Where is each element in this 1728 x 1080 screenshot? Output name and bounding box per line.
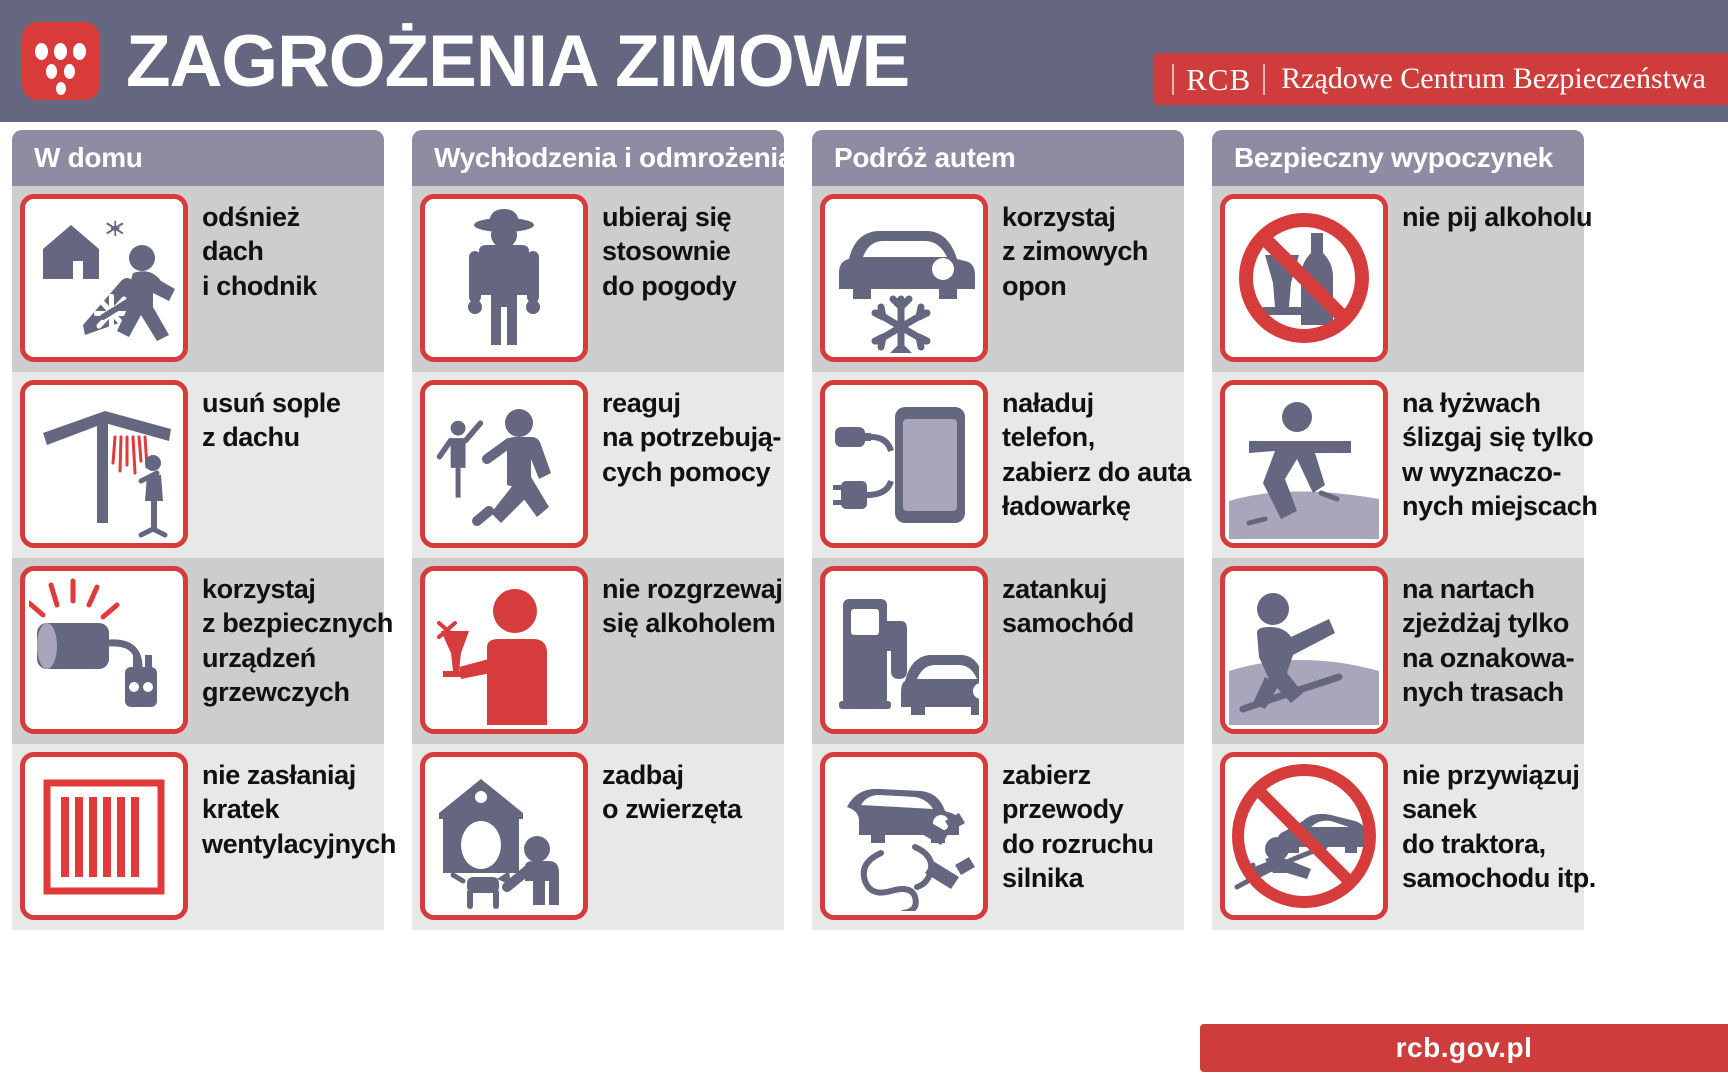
advice-text-line: ładowarkę	[1002, 489, 1191, 523]
column-title: Bezpieczny wypoczynek	[1234, 142, 1553, 174]
advice-text: nie pij alkoholu	[1388, 194, 1598, 234]
column-title: Wychłodzenia i odmrożenia	[434, 142, 793, 174]
advice-text-line: samochodu itp.	[1402, 861, 1596, 895]
ventilation-grill-icon	[20, 752, 188, 920]
skier-slope-icon	[1220, 566, 1388, 734]
advice-text-line: nych miejscach	[1402, 489, 1598, 523]
advice-text-line: samochód	[1002, 606, 1178, 640]
advice-text-line: korzystaj	[1002, 200, 1178, 234]
person-helping-running-icon	[420, 380, 588, 548]
no-alcohol-warming-icon	[420, 566, 588, 734]
advice-text-line: na nartach	[1402, 572, 1578, 606]
rcb-badge-name: Rządowe Centrum Bezpieczeństwa	[1281, 64, 1706, 94]
advice-text-line: nie przywiązuj	[1402, 758, 1596, 792]
footer-url-label: rcb.gov.pl	[1396, 1032, 1533, 1064]
advice-text-line: opon	[1002, 269, 1178, 303]
advice-text-line: cych pomocy	[602, 455, 781, 489]
column-title: W domu	[34, 142, 143, 174]
advice-text: zabierzprzewodydo rozruchusilnika	[988, 752, 1184, 895]
advice-text: reagujna potrzebują-cych pomocy	[588, 380, 787, 489]
advice-row: na nartachzjeżdżaj tylkona oznakowa-nych…	[1212, 558, 1584, 744]
ice-skater-icon	[1220, 380, 1388, 548]
column-0: W domuodśnieżdachi chodnikusuń soplez da…	[0, 130, 396, 930]
roof-icicles-icon	[20, 380, 188, 548]
advice-text-line: w wyznaczo-	[1402, 455, 1598, 489]
advice-text-line: ubieraj się	[602, 200, 778, 234]
column-header-2: Podróż autem	[812, 130, 1184, 186]
advice-row: odśnieżdachi chodnik	[12, 186, 384, 372]
advice-row: nie zasłaniajkratekwentylacyjnych	[12, 744, 384, 930]
advice-row: naładujtelefon,zabierz do autaładowarkę	[812, 372, 1184, 558]
advice-text: nie rozgrzewajsię alkoholem	[588, 566, 788, 641]
advice-text-line: zjeżdżaj tylko	[1402, 606, 1578, 640]
advice-text-line: zabierz do auta	[1002, 455, 1191, 489]
advice-text-line: przewody	[1002, 792, 1178, 826]
advice-text-line: nie pij alkoholu	[1402, 200, 1592, 234]
advice-text-line: sanek	[1402, 792, 1596, 826]
advice-text: na łyżwachślizgaj się tylkow wyznaczo-ny…	[1388, 380, 1604, 523]
column-1: Wychłodzenia i odmrożeniaubieraj sięstos…	[400, 130, 796, 930]
advice-text-line: dach	[202, 234, 378, 268]
advice-text: naładujtelefon,zabierz do autaładowarkę	[988, 380, 1197, 523]
column-body-2: korzystajz zimowychoponnaładujtelefon,za…	[812, 186, 1184, 930]
column-3: Bezpieczny wypoczyneknie pij alkoholuna …	[1200, 130, 1596, 930]
advice-row: zadbajo zwierzęta	[412, 744, 784, 930]
infographic-page: ZAGROŻENIA ZIMOWE RCB Rządowe Centrum Be…	[0, 0, 1728, 1080]
advice-text-line: wentylacyjnych	[202, 827, 396, 861]
no-sled-towing-car-icon	[1220, 752, 1388, 920]
advice-text: nie przywiązujsanekdo traktora,samochodu…	[1388, 752, 1602, 895]
advice-text: usuń soplez dachu	[188, 380, 384, 455]
advice-text-line: się alkoholem	[602, 606, 782, 640]
advice-text-line: na potrzebują-	[602, 420, 781, 454]
advice-text-line: silnika	[1002, 861, 1178, 895]
column-2: Podróż autemkorzystajz zimowychoponnaład…	[800, 130, 1196, 930]
advice-row: usuń soplez dachu	[12, 372, 384, 558]
advice-text-line: usuń sople	[202, 386, 378, 420]
jumper-cables-car-icon	[820, 752, 988, 920]
advice-text-line: o zwierzęta	[602, 792, 778, 826]
rcb-badge-mark: RCB	[1172, 64, 1265, 95]
advice-text-line: na oznakowa-	[1402, 641, 1578, 675]
fuel-pump-car-icon	[820, 566, 988, 734]
advice-text: ubieraj sięstosowniedo pogody	[588, 194, 784, 303]
column-body-0: odśnieżdachi chodnikusuń soplez dachukor…	[12, 186, 384, 930]
advice-text-line: ślizgaj się tylko	[1402, 420, 1598, 454]
advice-text-line: zatankuj	[1002, 572, 1178, 606]
advice-row: reagujna potrzebują-cych pomocy	[412, 372, 784, 558]
advice-text-line: do traktora,	[1402, 827, 1596, 861]
advice-text: nie zasłaniajkratekwentylacyjnych	[188, 752, 402, 861]
advice-text-line: odśnież	[202, 200, 378, 234]
column-header-0: W domu	[12, 130, 384, 186]
advice-text-line: stosownie	[602, 234, 778, 268]
advice-text-line: korzystaj	[202, 572, 393, 606]
advice-row: korzystajz zimowychopon	[812, 186, 1184, 372]
column-header-1: Wychłodzenia i odmrożenia	[412, 130, 784, 186]
heater-plug-icon	[20, 566, 188, 734]
advice-row: nie przywiązujsanekdo traktora,samochodu…	[1212, 744, 1584, 930]
advice-text: zatankujsamochód	[988, 566, 1184, 641]
no-alcohol-bottle-glass-icon	[1220, 194, 1388, 362]
advice-text-line: z bezpiecznych	[202, 606, 393, 640]
car-winter-tires-snowflake-icon	[820, 194, 988, 362]
advice-text-line: do pogody	[602, 269, 778, 303]
advice-row: ubieraj sięstosowniedo pogody	[412, 186, 784, 372]
advice-row: nie rozgrzewajsię alkoholem	[412, 558, 784, 744]
advice-text-line: z dachu	[202, 420, 378, 454]
column-header-3: Bezpieczny wypoczynek	[1212, 130, 1584, 186]
advice-text-line: reaguj	[602, 386, 781, 420]
advice-text-line: zadbaj	[602, 758, 778, 792]
advice-text-line: do rozruchu	[1002, 827, 1178, 861]
advice-row: korzystajz bezpiecznychurządzeńgrzewczyc…	[12, 558, 384, 744]
page-header: ZAGROŻENIA ZIMOWE RCB Rządowe Centrum Be…	[0, 0, 1728, 122]
column-body-1: ubieraj sięstosowniedo pogodyreagujna po…	[412, 186, 784, 930]
rcb-badge: RCB Rządowe Centrum Bezpieczeństwa	[1154, 53, 1728, 105]
advice-text: na nartachzjeżdżaj tylkona oznakowa-nych…	[1388, 566, 1584, 709]
pet-care-doghouse-icon	[420, 752, 588, 920]
footer-url-bar[interactable]: rcb.gov.pl	[1200, 1024, 1728, 1072]
rcb-dots-logo	[22, 22, 100, 100]
advice-text-line: zabierz	[1002, 758, 1178, 792]
advice-text-line: kratek	[202, 792, 396, 826]
advice-text-line: urządzeń	[202, 641, 393, 675]
column-body-3: nie pij alkoholuna łyżwachślizgaj się ty…	[1212, 186, 1584, 930]
advice-text-line: z zimowych	[1002, 234, 1178, 268]
advice-row: na łyżwachślizgaj się tylkow wyznaczo-ny…	[1212, 372, 1584, 558]
advice-row: nie pij alkoholu	[1212, 186, 1584, 372]
advice-text-line: nych trasach	[1402, 675, 1578, 709]
advice-text-line: i chodnik	[202, 269, 378, 303]
phone-charger-icon	[820, 380, 988, 548]
advice-text-line: na łyżwach	[1402, 386, 1598, 420]
advice-text: odśnieżdachi chodnik	[188, 194, 384, 303]
advice-text-line: nie zasłaniaj	[202, 758, 396, 792]
advice-text-line: nie rozgrzewaj	[602, 572, 782, 606]
advice-text-line: grzewczych	[202, 675, 393, 709]
person-warm-clothes-icon	[420, 194, 588, 362]
advice-row: zatankujsamochód	[812, 558, 1184, 744]
page-title: ZAGROŻENIA ZIMOWE	[126, 20, 909, 103]
house-snow-shoveling-icon	[20, 194, 188, 362]
advice-row: zabierzprzewodydo rozruchusilnika	[812, 744, 1184, 930]
advice-text: korzystajz bezpiecznychurządzeńgrzewczyc…	[188, 566, 399, 709]
advice-text-line: naładuj	[1002, 386, 1191, 420]
column-title: Podróż autem	[834, 142, 1016, 174]
advice-text: zadbajo zwierzęta	[588, 752, 784, 827]
columns-container: W domuodśnieżdachi chodnikusuń soplez da…	[0, 130, 1728, 930]
advice-text: korzystajz zimowychopon	[988, 194, 1184, 303]
advice-text-line: telefon,	[1002, 420, 1191, 454]
